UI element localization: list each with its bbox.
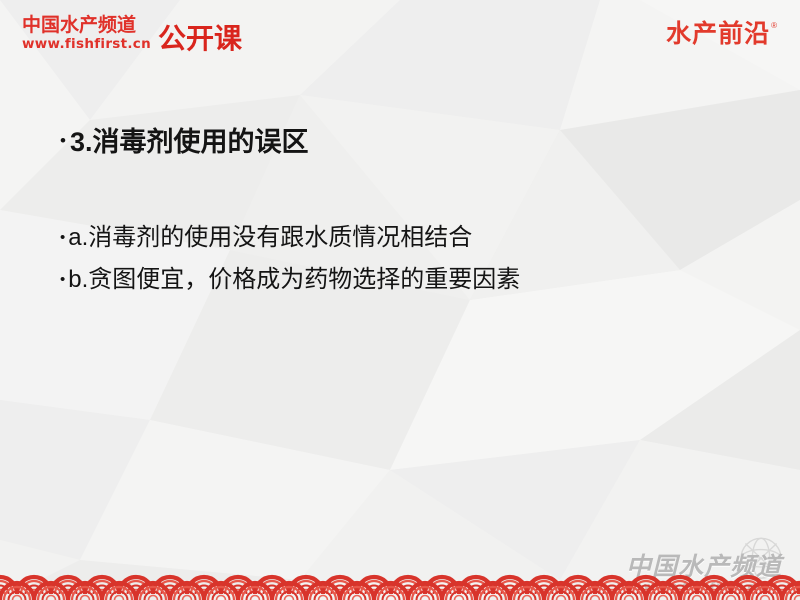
list-item: • a.消毒剂的使用没有跟水质情况相结合 — [60, 222, 750, 254]
channel-logo-stack: 中国水产频道 www.fishfirst.cn — [22, 16, 151, 52]
channel-logo: 中国水产频道 www.fishfirst.cn 公开课 — [22, 16, 242, 52]
brand-logo: 水产前沿® — [666, 22, 776, 47]
page-title: 3.消毒剂使用的误区 — [70, 126, 309, 160]
trademark-symbol: ® — [771, 21, 777, 30]
wave-decoration — [0, 560, 800, 600]
bullet-icon: • — [60, 272, 65, 287]
list-item-label: b.贪图便宜，价格成为药物选择的重要因素 — [68, 264, 520, 296]
list-item: • b.贪图便宜，价格成为药物选择的重要因素 — [60, 264, 750, 296]
slide-content: • 3.消毒剂使用的误区 • a.消毒剂的使用没有跟水质情况相结合 • b.贪图… — [60, 126, 750, 306]
bullet-icon: • — [60, 230, 65, 245]
brand-name: 水产前沿 — [666, 20, 770, 48]
channel-website: www.fishfirst.cn — [22, 37, 151, 52]
program-label: 公开课 — [158, 25, 242, 53]
presentation-slide: 中国水产频道 www.fishfirst.cn 公开课 水产前沿® • 3.消毒… — [0, 0, 800, 600]
slide-title-row: • 3.消毒剂使用的误区 — [60, 126, 750, 160]
slide-footer: 中国水产频道 www.fishfirst.cn — [0, 544, 800, 600]
channel-name: 中国水产频道 — [22, 16, 136, 36]
bullet-list: • a.消毒剂的使用没有跟水质情况相结合 • b.贪图便宜，价格成为药物选择的重… — [60, 222, 750, 296]
list-item-label: a.消毒剂的使用没有跟水质情况相结合 — [68, 222, 472, 254]
bullet-icon: • — [60, 132, 66, 149]
